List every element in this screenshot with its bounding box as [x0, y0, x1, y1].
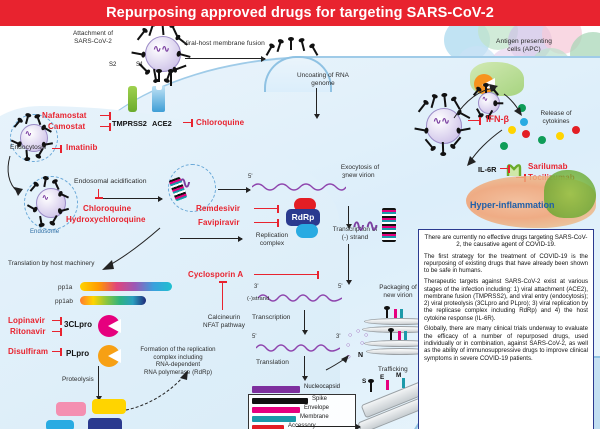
label-endocytosis: Endocytosis [10, 144, 46, 152]
cytokine-blue [520, 118, 528, 126]
label-s-tag: S [362, 378, 366, 385]
label-attachment: Attachment of SARS-CoV-2 [56, 30, 130, 45]
cytokine-yellow [508, 126, 516, 134]
protein-tmprss2: TMPRSS2 [112, 119, 147, 128]
info-paragraph-3: Globally, there are many clinical trials… [424, 325, 588, 361]
label-m-tag: M [396, 372, 401, 379]
legend-label-spike: Spike [312, 396, 327, 402]
arrow-translation [304, 356, 305, 376]
nsp-fragment-navy [88, 418, 122, 429]
label-s1: S1 [136, 62, 143, 70]
infographic-page: Repurposing approved drugs for targeting… [0, 0, 600, 429]
inhibitor-disulfiram [52, 351, 61, 352]
label-exocytosis: Exocytosis of new virion [332, 164, 388, 179]
inhibitor-chloroquine [98, 189, 99, 198]
arrow-transcription-minus-top [348, 206, 349, 224]
polyprotein-pp1ab [80, 296, 146, 305]
inhibitor-imatinib [52, 148, 61, 149]
cytokine-green-2 [538, 136, 546, 144]
rdrp-subunit-blue [296, 224, 318, 238]
inhibitor-ritonavir [52, 331, 61, 332]
label-5prime-genome: 5' [248, 174, 252, 180]
cytokine-red [522, 130, 530, 138]
rna-mrna [256, 342, 340, 350]
inhibitor-ace2 [183, 122, 192, 123]
arrow-to-il6r [462, 126, 508, 170]
label-proteolysis: Proteolysis [62, 376, 94, 384]
info-paragraph-2: Therapeutic targets against SARS-CoV-2 e… [424, 278, 588, 322]
label-uncoating: Uncoating of RNA genome [288, 72, 358, 87]
protein-il6r: IL-6R [478, 165, 496, 174]
info-heading: There are currently no effective drugs t… [424, 234, 588, 249]
arrow-cytokine-release [500, 92, 530, 118]
label-calcineurin-pathway: Calcineurin NFAT pathway [196, 314, 252, 329]
arrow-genome-release [218, 189, 250, 190]
header-bar: Repurposing approved drugs for targeting… [0, 0, 600, 26]
label-minus-strand: (-)strand [247, 296, 269, 304]
protein-ace2: ACE2 [152, 119, 172, 128]
cytokine-red-2 [572, 126, 580, 134]
drug-disulfiram: Disulfiram [8, 347, 48, 356]
arrow-to-n-protein [324, 352, 352, 372]
drug-imatinib: Imatinib [66, 143, 97, 152]
inhibitor-cyclosporin [254, 274, 318, 275]
inhibitor-nafamostat [100, 115, 110, 116]
inflammation-blob-green [544, 170, 596, 218]
drug-chloroquine-ace2: Chloroquine [196, 118, 244, 127]
legend-nucleocapsid-label: Nucleocapsid [304, 384, 340, 390]
nucleocapsid-bar [252, 386, 300, 393]
arrow-uncoating [316, 88, 317, 114]
arrow-proteolysis [98, 366, 99, 396]
label-viral-host-fusion: Viral-host membrane fusion [183, 40, 265, 48]
protease-3clpro-shape [98, 315, 120, 337]
label-trafficking: Trafficking [378, 366, 408, 374]
legend-label-envelope: Envelope [304, 405, 329, 411]
legend-swatch-spike [252, 398, 308, 404]
nsp-fragment-yellow [92, 399, 126, 414]
label-e-tag: E [380, 374, 384, 381]
inhibitor-ifnb [468, 120, 480, 121]
label-translation-host: Translation by host machinery [8, 260, 94, 268]
drug-chloroquine: Chloroquine [83, 204, 131, 213]
label-5prime-mrna: 5' [252, 334, 256, 340]
info-panel: There are currently no effective drugs t… [418, 229, 594, 429]
tmprss2-receptor [128, 86, 137, 112]
label-3prime-mrna: 3' [336, 334, 340, 340]
label-translation: Translation [256, 359, 289, 367]
label-replication-complex: Replication complex [250, 232, 294, 247]
label-n-protein: N [358, 352, 363, 359]
drug-favipiravir: Favipiravir [198, 218, 240, 227]
arrow-to-translation [92, 226, 164, 276]
drug-lopinavir: Lopinavir [8, 316, 45, 325]
protein-3clpro: 3CLpro [64, 320, 92, 329]
arrow-fusion [185, 58, 265, 59]
arrow-acidification [100, 198, 162, 199]
inhibitor-favipiravir [254, 222, 278, 223]
inhibitor-il6r-link [500, 168, 509, 169]
page-title: Repurposing approved drugs for targeting… [0, 0, 600, 26]
arrow-transcription [304, 310, 305, 330]
legend-swatch-accessory [252, 425, 284, 429]
nsp-fragment-blue [46, 420, 74, 429]
nsp-fragment-pink [56, 402, 86, 416]
label-pp1ab: pp1ab [55, 298, 73, 306]
arrow-complex-formation [124, 366, 196, 414]
inhibitor-calcineurin [222, 282, 223, 310]
polyprotein-pp1a [80, 282, 172, 291]
legend-label-membrane: Membrane [300, 414, 329, 420]
label-cytokines: Release of cytokines [530, 110, 582, 125]
arrow-er-trafficking [296, 426, 360, 427]
info-paragraph-1: The first strategy for the treatment of … [424, 253, 588, 275]
legend-swatch-envelope [252, 407, 300, 413]
inhibitor-camostat [100, 126, 110, 127]
ace2-receptor [152, 86, 165, 112]
inhibitor-remdesivir [254, 208, 278, 209]
inhibitor-lopinavir [52, 320, 61, 321]
drug-cyclosporin-a: Cyclosporin A [188, 270, 243, 279]
cytokine-yellow-2 [556, 132, 564, 140]
arrow-transcription-minus [348, 244, 349, 280]
legend-swatch-membrane [252, 416, 296, 422]
arrow-to-replication-complex [180, 238, 242, 239]
drug-hydroxychloroquine: Hydroxychloroquine [66, 215, 146, 224]
drug-ritonavir: Ritonavir [10, 327, 46, 336]
diagram-canvas: Attachment of SARS-CoV-2 ∿∿ S2 S1 Viral-… [0, 26, 600, 429]
label-endosomal-acidification: Endosomal acidification [74, 178, 147, 186]
protein-plpro: PLpro [66, 349, 89, 358]
rna-minus-strand [258, 292, 342, 300]
label-5prime-minus: 5' [338, 284, 342, 290]
label-endosome: Endosome [30, 229, 59, 237]
protease-plpro-shape [98, 345, 120, 367]
label-hyperinflammation: Hyper-inflammation [470, 200, 555, 210]
rna-genome-plus [252, 181, 346, 189]
drug-remdesivir: Remdesivir [196, 204, 240, 213]
label-3prime-minus: 3' [254, 284, 258, 290]
label-apc: Antigen presenting cells (APC) [486, 38, 562, 53]
label-transcription: Transcription [252, 314, 291, 322]
label-pp1a: pp1a [58, 284, 72, 292]
label-s2: S2 [109, 62, 116, 70]
